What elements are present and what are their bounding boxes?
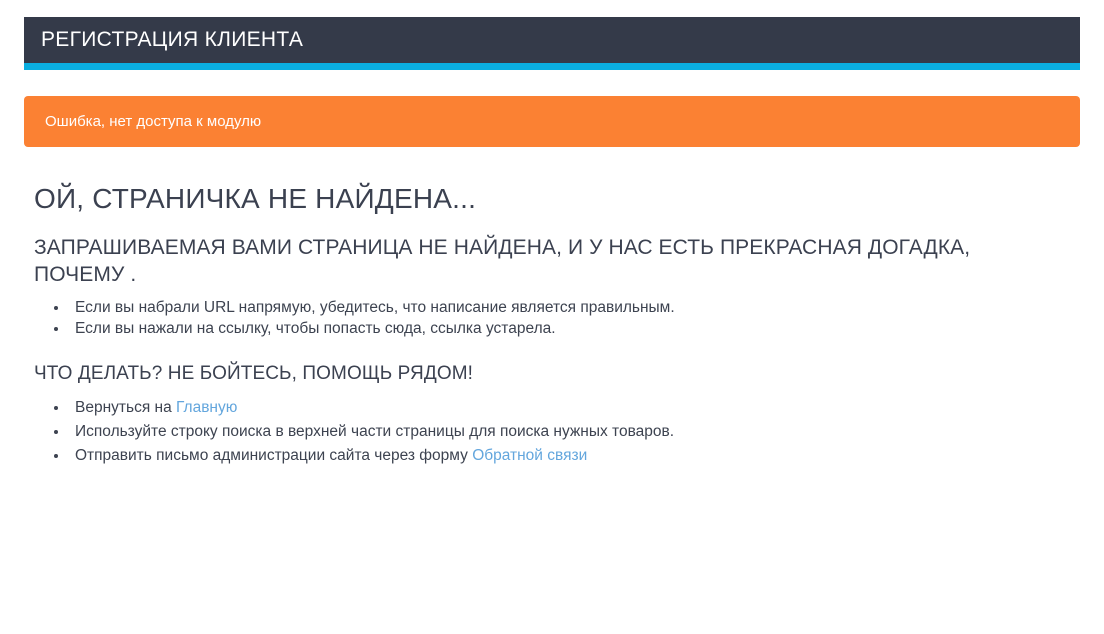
- error-alert-banner: Ошибка, нет доступа к модулю: [24, 96, 1080, 147]
- home-link[interactable]: Главную: [176, 399, 237, 416]
- page-header: РЕГИСТРАЦИЯ КЛИЕНТА: [24, 17, 1080, 63]
- header-accent-bar: [24, 63, 1080, 70]
- main-content: ОЙ, СТРАНИЧКА НЕ НАЙДЕНА... ЗАПРАШИВАЕМА…: [34, 180, 1074, 468]
- list-item: Вернуться на Главную: [69, 396, 1074, 420]
- page-title: РЕГИСТРАЦИЯ КЛИЕНТА: [24, 28, 303, 52]
- feedback-link[interactable]: Обратной связи: [472, 447, 587, 464]
- list-item: Если вы набрали URL напрямую, убедитесь,…: [69, 297, 1074, 318]
- feedback-action-prefix: Отправить письмо администрации сайта чер…: [75, 447, 472, 464]
- page-root: РЕГИСТРАЦИЯ КЛИЕНТА Ошибка, нет доступа …: [0, 0, 1104, 634]
- error-alert-message: Ошибка, нет доступа к модулю: [24, 113, 261, 130]
- home-action-prefix: Вернуться на: [75, 399, 176, 416]
- search-action-text: Используйте строку поиска в верхней част…: [75, 423, 674, 440]
- list-item: Отправить письмо администрации сайта чер…: [69, 444, 1074, 468]
- list-item: Если вы нажали на ссылку, чтобы попасть …: [69, 318, 1074, 339]
- help-subtitle: ЧТО ДЕЛАТЬ? НЕ БОЙТЕСЬ, ПОМОЩЬ РЯДОМ!: [34, 361, 1074, 387]
- not-found-title: ОЙ, СТРАНИЧКА НЕ НАЙДЕНА...: [34, 180, 1074, 218]
- not-found-lead: ЗАПРАШИВАЕМАЯ ВАМИ СТРАНИЦА НЕ НАЙДЕНА, …: [34, 234, 1034, 288]
- reasons-list: Если вы набрали URL напрямую, убедитесь,…: [34, 297, 1074, 339]
- list-item: Используйте строку поиска в верхней част…: [69, 420, 1074, 444]
- actions-list: Вернуться на Главную Используйте строку …: [34, 396, 1074, 468]
